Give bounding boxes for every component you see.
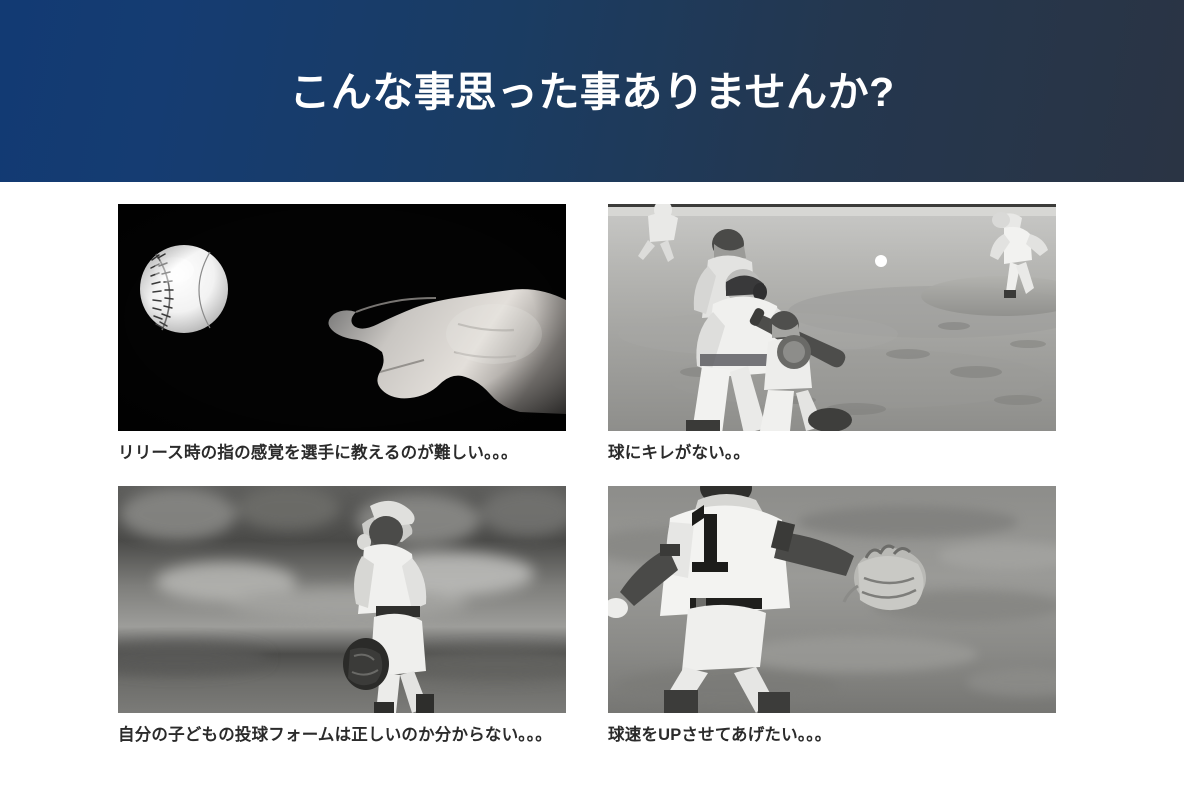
hero-banner: こんな事思った事ありませんか?	[0, 0, 1184, 182]
gallery-item-ball-no-sharpness: 球にキレがない。。	[608, 204, 1056, 465]
gallery-item-caption: 球にキレがない。。	[608, 442, 1056, 465]
page-root: こんな事思った事ありませんか?	[0, 0, 1184, 794]
gallery-item-release-finger-feel: リリース時の指の感覚を選手に教えるのが難しい。。。	[118, 204, 566, 465]
gallery-item-caption: リリース時の指の感覚を選手に教えるのが難しい。。。	[118, 442, 586, 465]
gallery-item-child-pitching-form: 自分の子どもの投球フォームは正しいのか分からない。。。	[118, 486, 566, 747]
batter-catcher-umpire-and-pitcher-photo[interactable]	[608, 204, 1056, 431]
gallery-item-increase-ball-speed: 球速をUPさせてあげたい。。。	[608, 486, 1056, 747]
gallery-item-caption: 球速をUPさせてあげたい。。。	[608, 724, 1056, 747]
concerns-gallery: リリース時の指の感覚を選手に教えるのが難しい。。。	[118, 204, 1057, 748]
young-player-in-outfield-photo[interactable]	[118, 486, 566, 713]
gallery-row: 自分の子どもの投球フォームは正しいのか分からない。。。	[118, 486, 1057, 747]
page-title: こんな事思った事ありませんか?	[289, 68, 894, 117]
baseball-and-releasing-hand-photo[interactable]	[118, 204, 566, 431]
gallery-item-caption: 自分の子どもの投球フォームは正しいのか分からない。。。	[118, 724, 586, 747]
pitcher-number-one-winding-up-photo[interactable]	[608, 486, 1056, 713]
gallery-row: リリース時の指の感覚を選手に教えるのが難しい。。。	[118, 204, 1057, 465]
